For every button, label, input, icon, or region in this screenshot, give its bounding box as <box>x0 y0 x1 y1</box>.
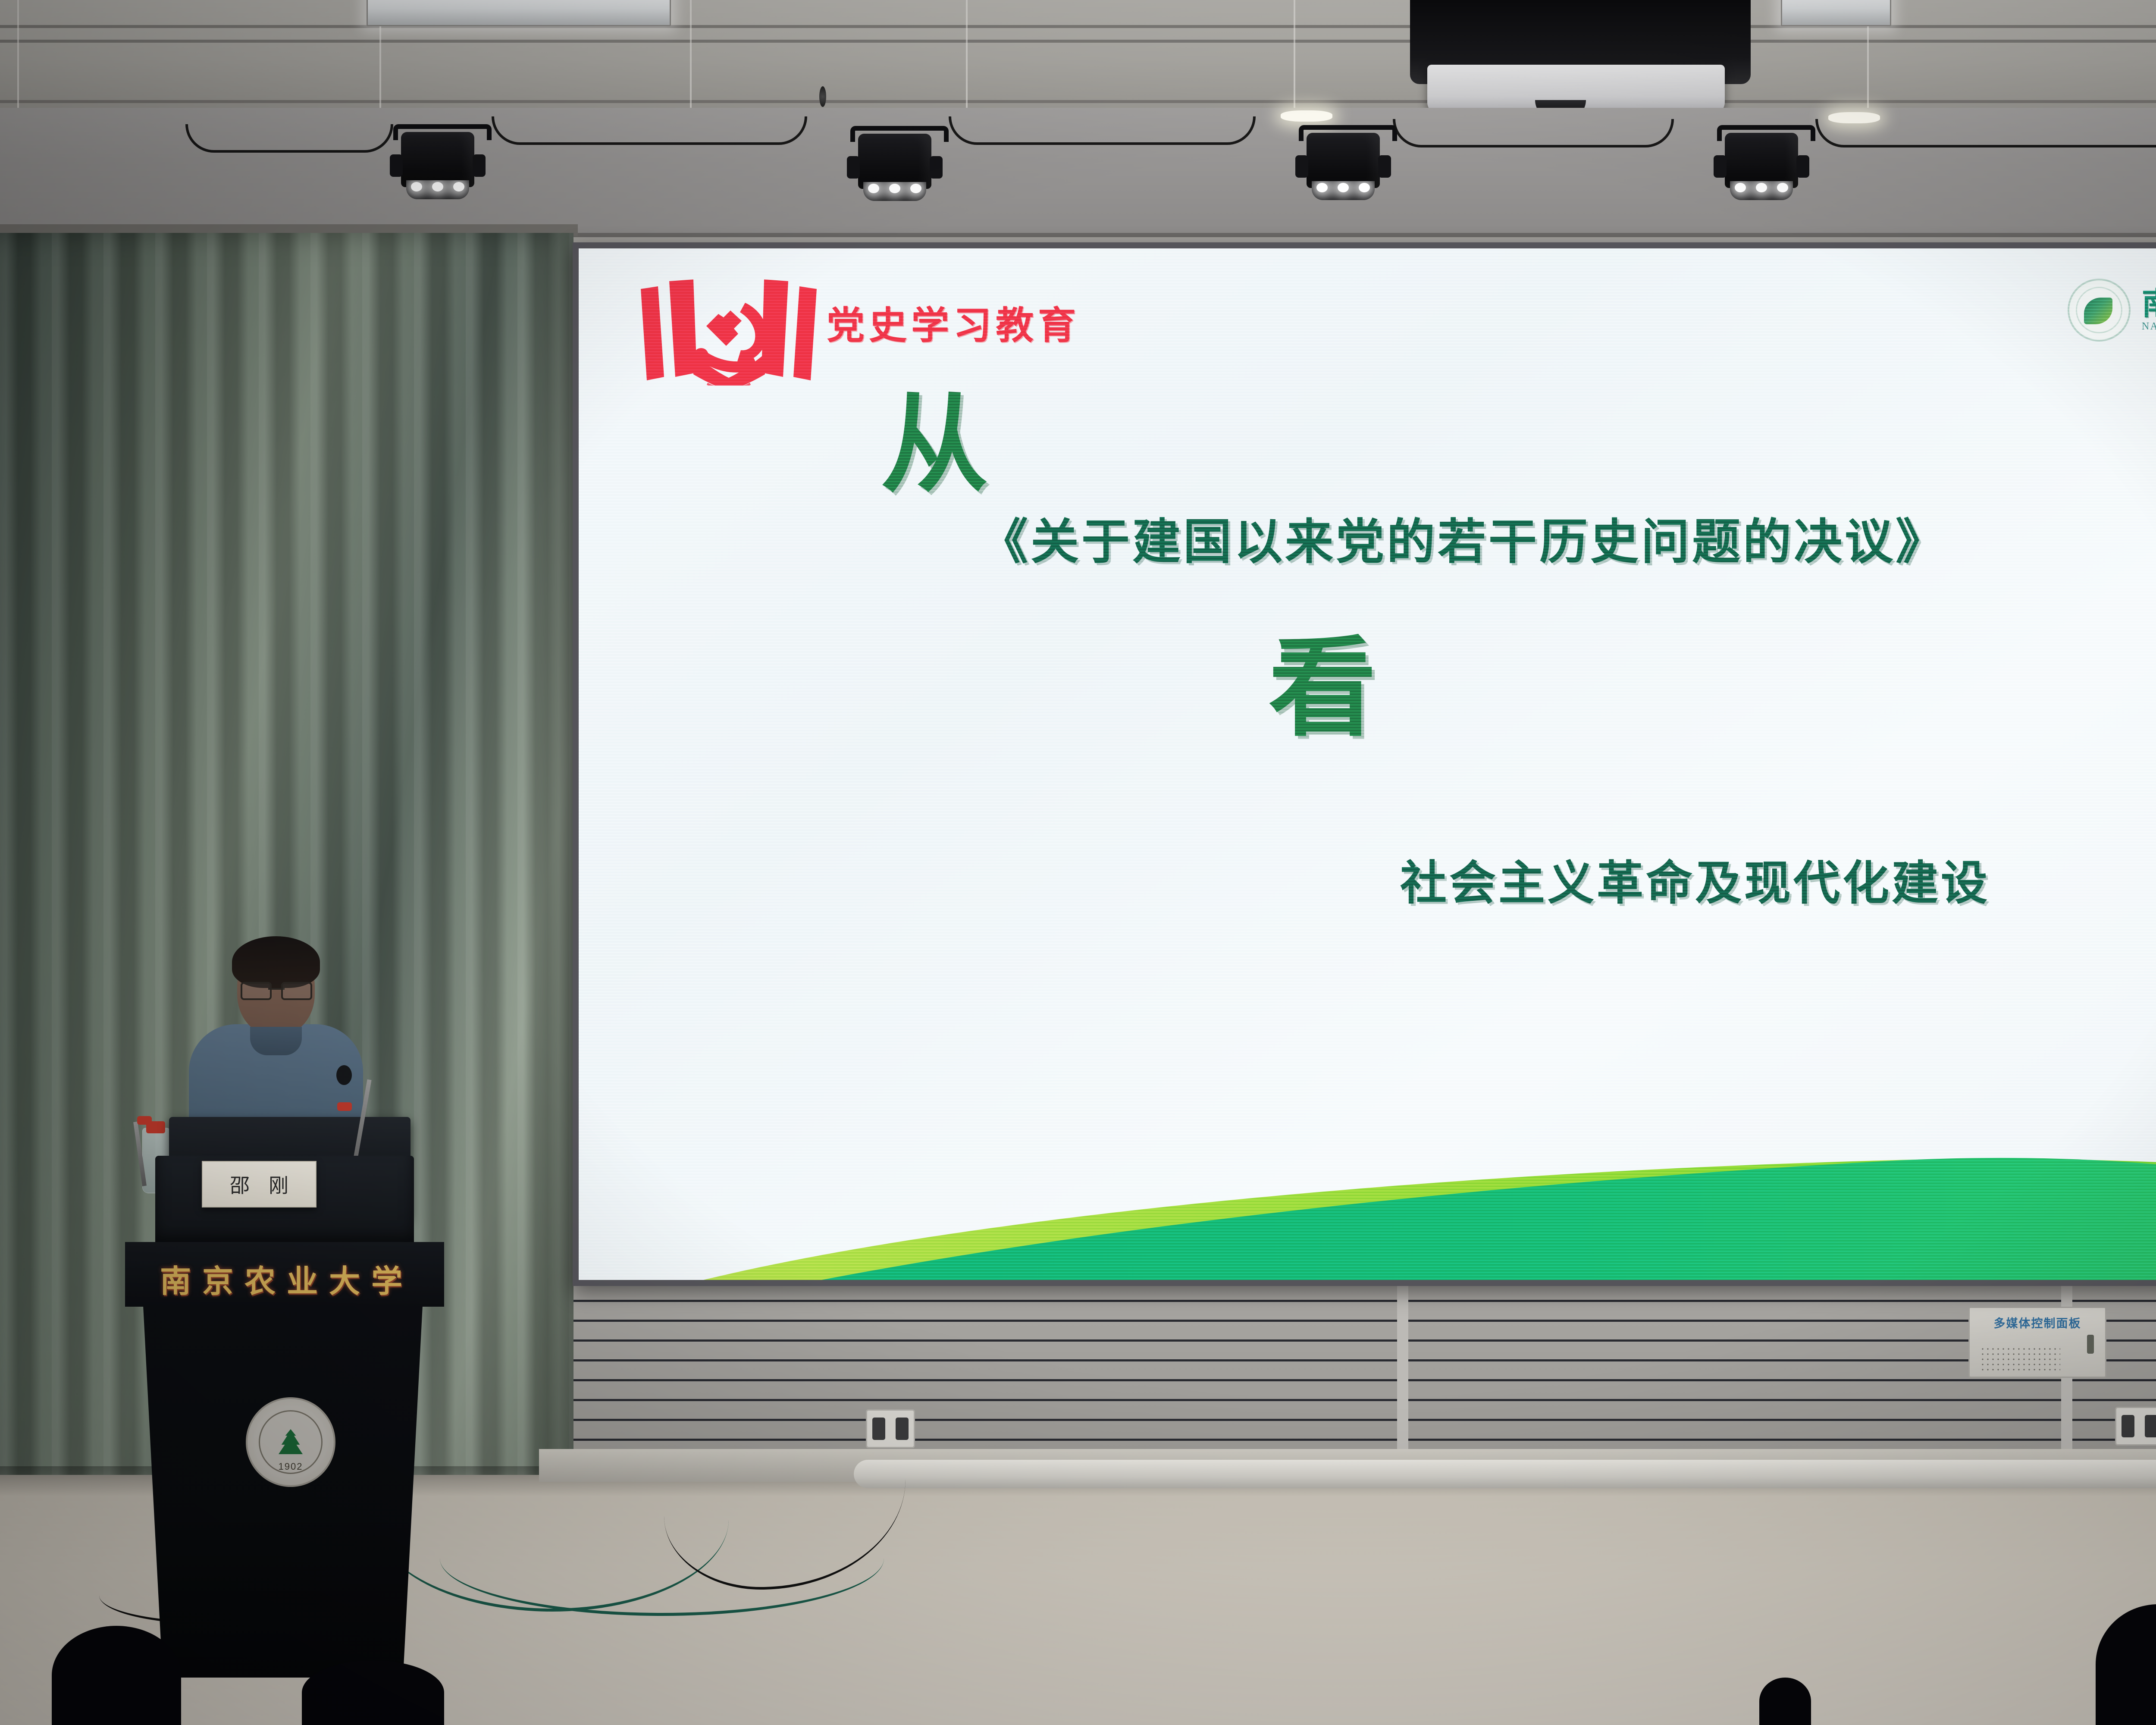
panel-led-icon <box>2087 1335 2094 1354</box>
par-stage-light-icon <box>1708 125 1815 205</box>
headline-char-view: 看 <box>1269 634 1376 742</box>
ceiling-light <box>367 0 671 26</box>
presentation-slide: 党史学习教育 南京农业大学植物保护学院 NANJING AGRICULTURAL… <box>579 248 2156 1280</box>
sprinkler-icon <box>819 86 826 107</box>
institution-logo: 南京农业大学植物保护学院 NANJING AGRICULTURAL UNIVER… <box>2068 279 2156 342</box>
power-cable <box>1815 119 2156 147</box>
stage-light-beam <box>0 108 2156 237</box>
institution-name-cn: 南京农业大学植物保护学院 <box>2142 288 2156 319</box>
av-control-panel-label: 多媒体控制面板 <box>1970 1314 2105 1331</box>
crest-year: 1902 <box>248 1461 334 1472</box>
power-cable <box>949 116 1256 145</box>
projection-screen-frame: 党史学习教育 南京农业大学植物保护学院 NANJING AGRICULTURAL… <box>573 242 2156 1286</box>
book-title-text: 《关于建国以来党的若干历史问题的决议》 <box>980 503 1946 573</box>
audience-head <box>52 1626 181 1725</box>
nau-seal-icon <box>2068 279 2131 342</box>
lectern-engraved-text: 南京农业大学 <box>138 1256 436 1301</box>
par-stage-light-icon <box>841 126 949 206</box>
power-cable <box>185 124 393 153</box>
lectern: 南京农业大学 1902 <box>121 1156 448 1678</box>
projector-lens-icon <box>1535 100 1586 108</box>
slide-wave-decoration <box>579 1138 2156 1280</box>
speaker-grille-icon <box>1980 1346 2060 1371</box>
power-outlet-icon <box>2115 1407 2156 1446</box>
speaker-nameplate: 邵 刚 <box>202 1161 317 1207</box>
cable-duct <box>854 1460 2156 1488</box>
power-cable <box>492 116 807 145</box>
party-history-slogan: 党史学习教育 <box>827 295 1080 350</box>
audience-head <box>302 1660 444 1725</box>
ceiling-light <box>1781 0 1891 26</box>
ceiling <box>0 0 2156 108</box>
av-control-panel-icon[interactable]: 多媒体控制面板 <box>1968 1307 2106 1378</box>
nameplate-surname: 邵 <box>230 1170 250 1198</box>
audience-head <box>1759 1678 1811 1725</box>
subject-line-text: 社会主义革命及现代化建设 <box>1400 846 1990 913</box>
lecture-hall-scene: 多媒体控制面板 <box>0 0 2156 1725</box>
party-emblem-book-logo <box>638 269 819 386</box>
eyeglasses-icon <box>241 982 312 997</box>
headline-char-from: 从 <box>881 391 988 499</box>
nau-crest-icon: 1902 <box>246 1397 335 1487</box>
institution-name-en: NANJING AGRICULTURAL UNIVERSITY COLLEGE … <box>2142 321 2156 332</box>
power-cable <box>1393 119 1674 147</box>
nameplate-given-name: 刚 <box>269 1170 288 1198</box>
par-stage-light-icon <box>384 124 492 204</box>
par-stage-light-icon <box>1289 125 1397 205</box>
microphone-icon <box>336 1065 352 1085</box>
